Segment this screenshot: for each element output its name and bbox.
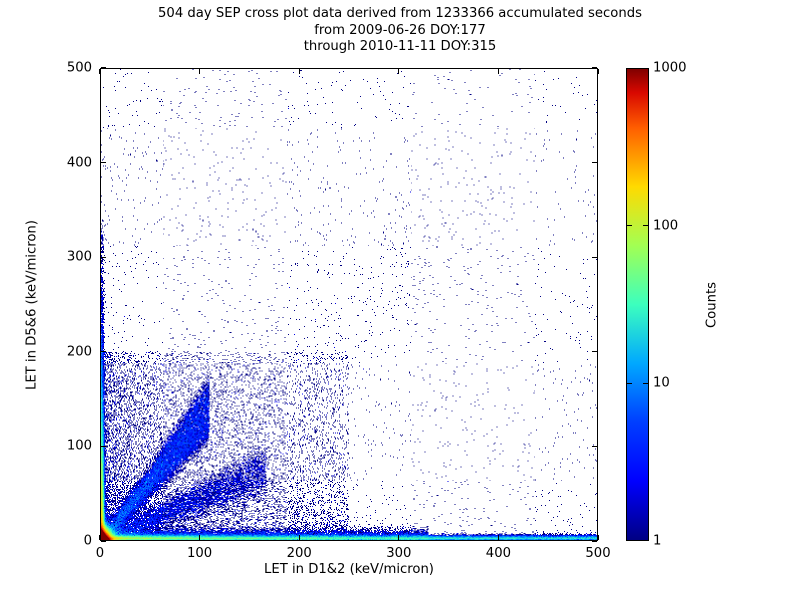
y-tick-label: 500 <box>0 61 92 76</box>
colorbar-tick <box>643 383 648 384</box>
colorbar-tick <box>627 225 632 226</box>
y-tick-label: 300 <box>0 250 92 265</box>
x-tick-top <box>597 69 598 74</box>
x-tick-label: 400 <box>486 546 511 561</box>
colorbar-tick-label: 1000 <box>653 61 687 76</box>
x-tick-label: 0 <box>96 546 104 561</box>
colorbar-title: Counts <box>705 281 720 327</box>
y-tick-label: 0 <box>0 534 92 549</box>
x-tick-top <box>199 69 200 74</box>
x-tick-top <box>99 69 100 74</box>
figure-title-line-3: through 2010-11-11 DOY:315 <box>0 39 800 56</box>
y-tick-right <box>592 446 597 447</box>
colorbar-tick <box>627 383 632 384</box>
x-tick-bottom <box>199 535 200 540</box>
x-tick-bottom <box>498 535 499 540</box>
colorbar-gradient <box>627 69 648 540</box>
x-tick-bottom <box>398 535 399 540</box>
colorbar <box>626 68 649 541</box>
y-tick-label: 200 <box>0 344 92 359</box>
x-tick-bottom <box>299 535 300 540</box>
x-axis-title: LET in D1&2 (keV/micron) <box>100 562 598 577</box>
y-tick-right <box>592 162 597 163</box>
figure-canvas: 504 day SEP cross plot data derived from… <box>0 0 800 600</box>
scatter-density-canvas <box>101 69 597 540</box>
plot-area <box>100 68 598 541</box>
scatter-density-layer <box>101 69 597 540</box>
y-tick-label: 100 <box>0 439 92 454</box>
colorbar-tick-label: 100 <box>653 218 678 233</box>
y-tick-right <box>592 257 597 258</box>
y-tick-right <box>592 67 597 68</box>
x-tick-bottom <box>597 535 598 540</box>
y-tick-left <box>101 67 106 68</box>
colorbar-tick <box>643 225 648 226</box>
x-tick-top <box>398 69 399 74</box>
figure-title-line-1: 504 day SEP cross plot data derived from… <box>0 6 800 23</box>
x-tick-label: 500 <box>585 546 610 561</box>
x-tick-top <box>498 69 499 74</box>
x-tick-top <box>299 69 300 74</box>
y-tick-right <box>592 351 597 352</box>
y-tick-left <box>101 257 106 258</box>
y-tick-left <box>101 446 106 447</box>
colorbar-tick-label: 10 <box>653 376 670 391</box>
x-tick-label: 100 <box>187 546 212 561</box>
figure-title-line-2: from 2009-06-26 DOY:177 <box>0 23 800 40</box>
colorbar-tick-label: 1 <box>653 534 661 549</box>
y-tick-left <box>101 162 106 163</box>
figure-title: 504 day SEP cross plot data derived from… <box>0 6 800 56</box>
x-tick-label: 200 <box>287 546 312 561</box>
x-tick-label: 300 <box>386 546 411 561</box>
y-axis-title: LET in D5&6 (keV/micron) <box>25 220 40 390</box>
y-tick-right <box>592 540 597 541</box>
y-tick-left <box>101 351 106 352</box>
y-tick-label: 400 <box>0 155 92 170</box>
y-tick-left <box>101 540 106 541</box>
